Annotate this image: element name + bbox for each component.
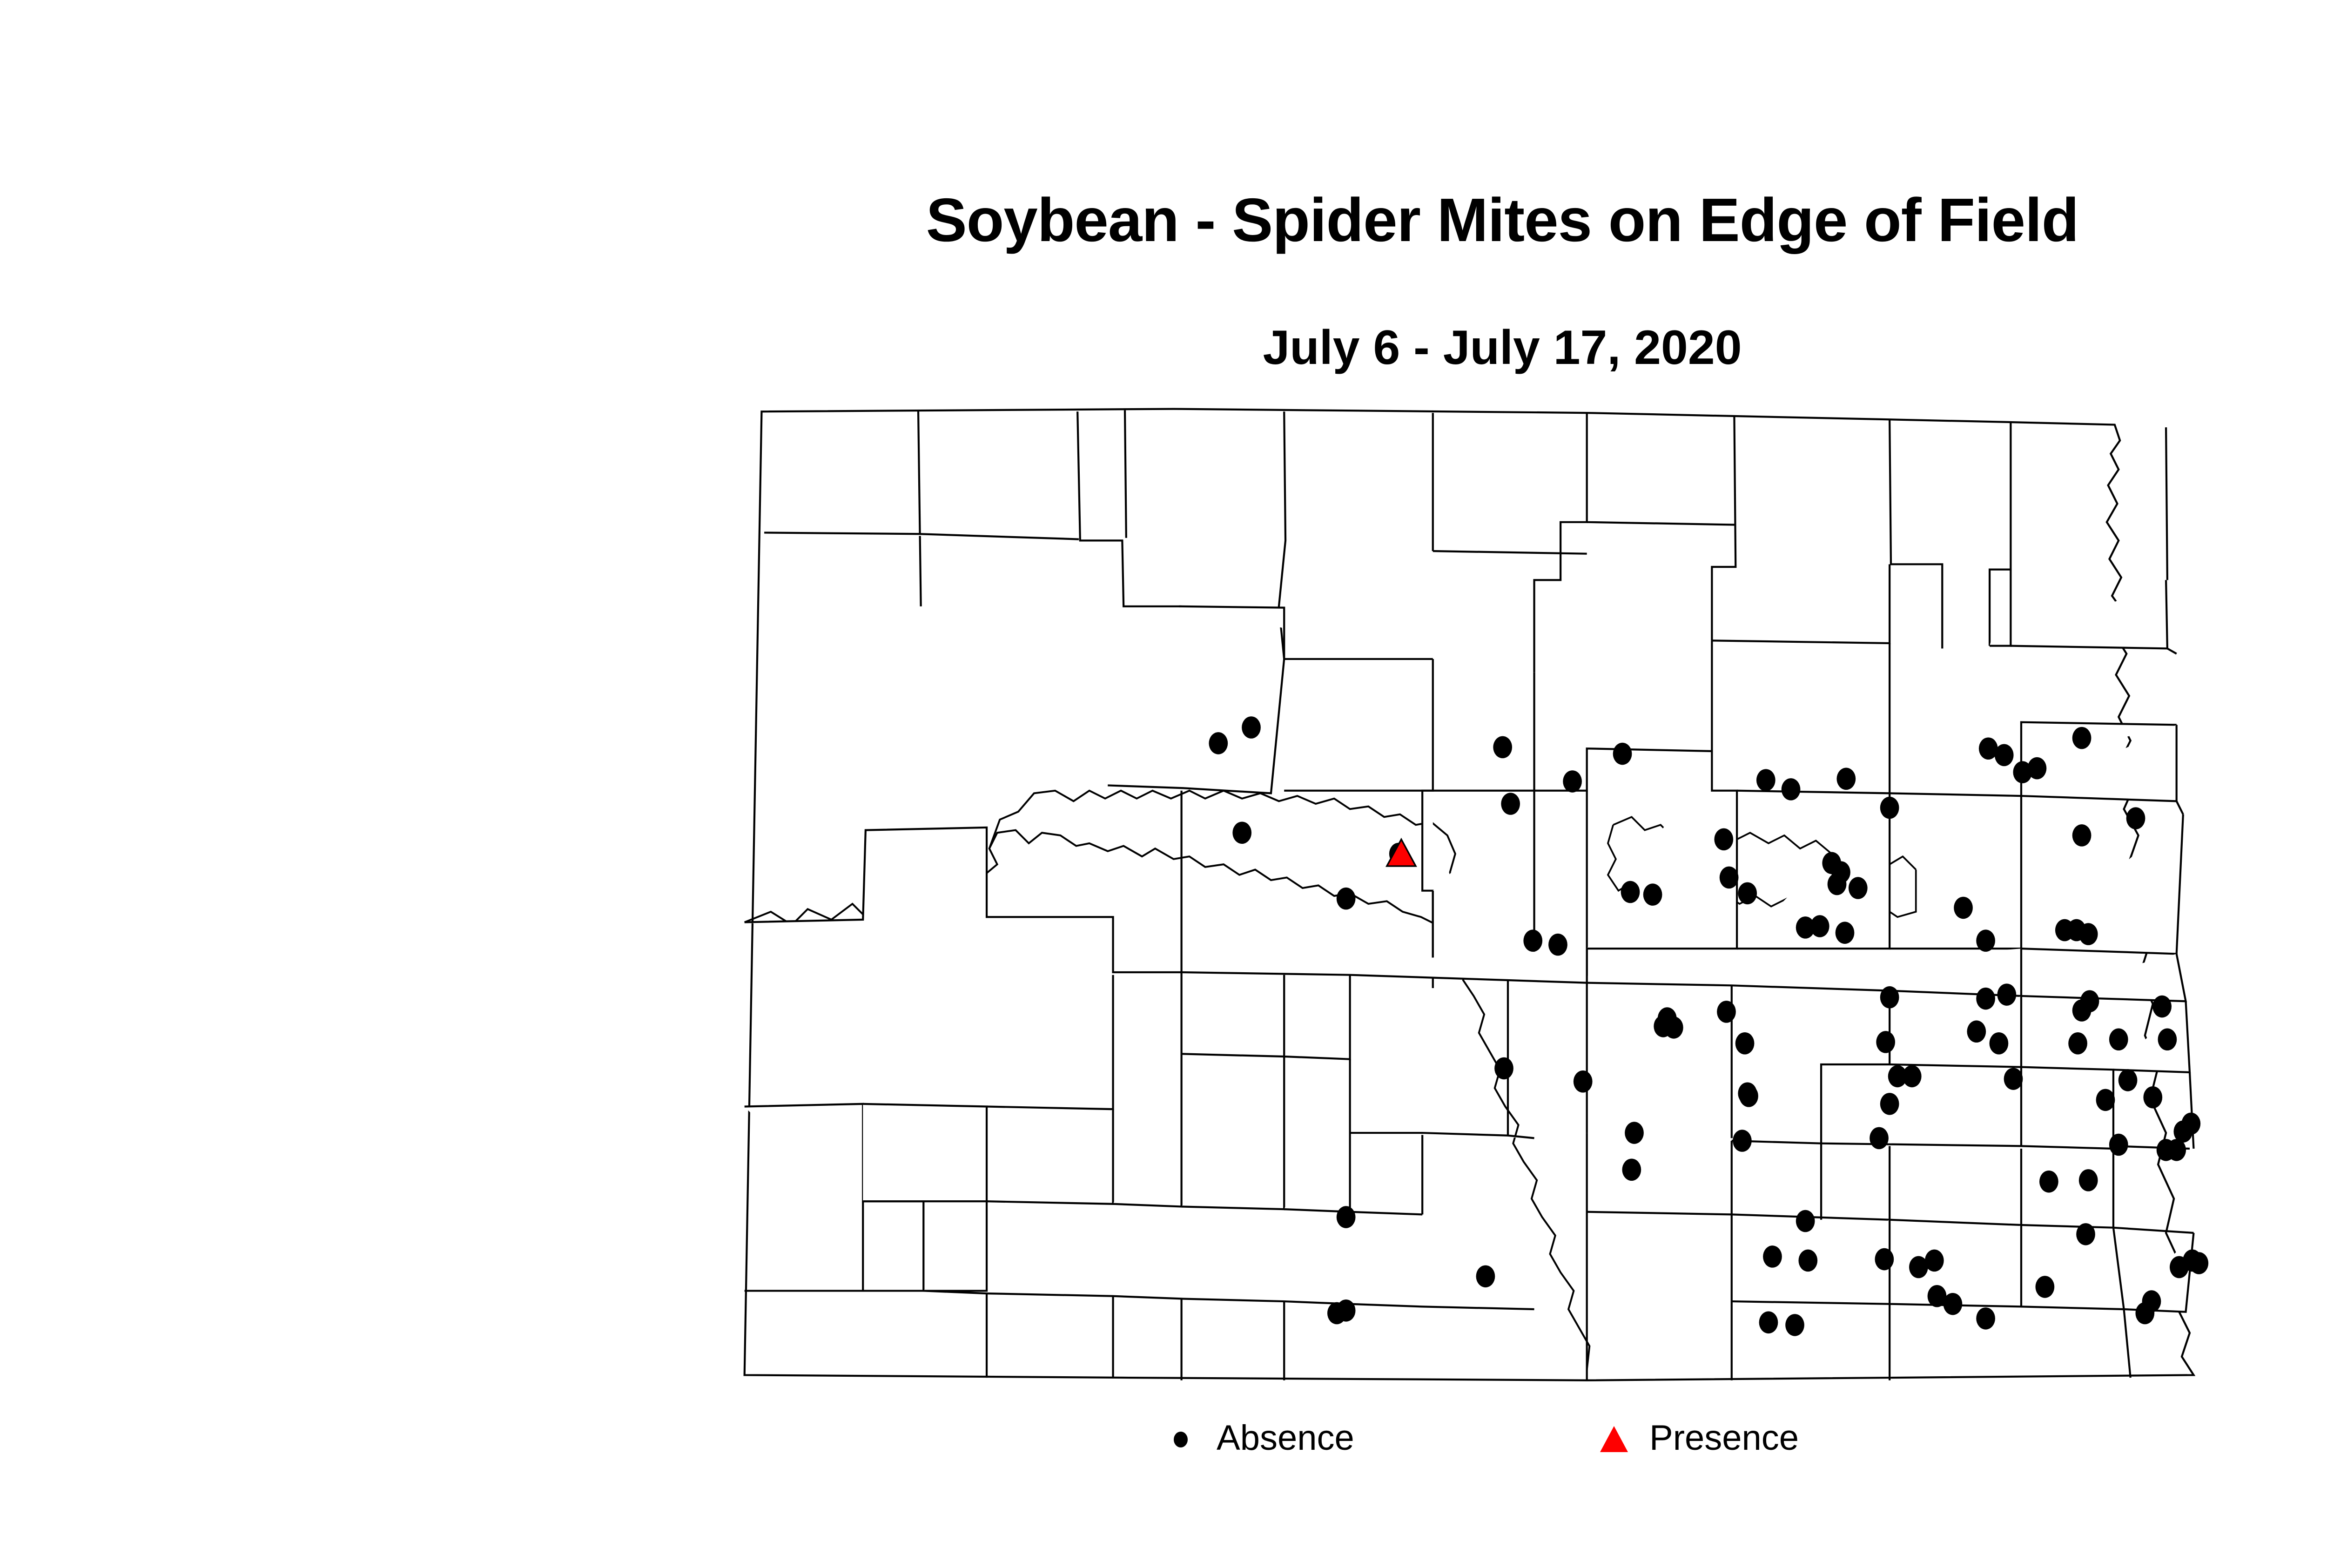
county-boundaries — [745, 409, 2194, 1380]
county-line — [863, 1104, 987, 1201]
map-marker-absence — [2004, 1068, 2023, 1090]
map-marker-absence — [2143, 1086, 2162, 1109]
map-marker-absence — [1643, 883, 1662, 906]
legend-label-absence: Absence — [1217, 1420, 1354, 1456]
map-marker-absence — [1493, 736, 1512, 759]
page-subtitle: July 6 - July 17, 2020 — [0, 321, 2327, 374]
map-marker-absence — [1654, 1015, 1673, 1037]
map-marker-absence — [1967, 1021, 1986, 1043]
map-marker-absence — [2072, 824, 2092, 847]
map-marker-absence — [1337, 1299, 1356, 1322]
county-line — [2166, 427, 2167, 580]
map-marker-absence — [2028, 757, 2047, 780]
map-marker-absence — [1880, 986, 1899, 1009]
county-line — [2167, 648, 2177, 653]
map-marker-absence — [1925, 1250, 1944, 1272]
map-marker-absence — [1548, 934, 1567, 956]
legend-item-presence: Presence — [1596, 1410, 1799, 1466]
map-marker-absence — [1944, 1293, 1963, 1315]
figure-container: Soybean - Spider Mites on Edge of Field … — [0, 0, 2327, 1568]
map-marker-absence — [1501, 793, 1520, 815]
map-marker-absence — [1954, 897, 1973, 919]
filled-triangle-icon — [1596, 1420, 1632, 1456]
map-marker-absence — [1880, 797, 1899, 819]
map-marker-absence — [1476, 1265, 1495, 1288]
map-marker-absence — [2109, 1134, 2128, 1156]
map-marker-absence — [1232, 821, 1251, 844]
map-marker-absence — [1796, 1210, 1815, 1232]
map-marker-absence — [2080, 990, 2099, 1012]
map-marker-absence — [2152, 996, 2172, 1018]
map-marker-absence — [2126, 807, 2145, 829]
map-marker-absence — [1782, 778, 1801, 801]
legend: Absence Presence — [1163, 1410, 1862, 1466]
legend-item-absence: Absence — [1163, 1410, 1354, 1466]
map-marker-absence — [2079, 1169, 2098, 1191]
map-marker-absence — [1836, 768, 1856, 790]
map-marker-absence — [1523, 929, 1542, 952]
map-marker-absence — [1976, 929, 1995, 952]
map-marker-absence — [1717, 1001, 1736, 1023]
map-marker-absence — [2158, 1029, 2177, 1051]
map-marker-absence — [2036, 1276, 2055, 1298]
map-marker-absence — [1798, 1250, 1817, 1272]
map-marker-absence — [1903, 1065, 1922, 1088]
map-marker-absence — [1976, 1307, 1995, 1330]
map-marker-absence — [1976, 988, 1995, 1010]
map-marker-absence — [1574, 1070, 1593, 1093]
map-marker-absence — [1613, 743, 1632, 765]
map-marker-absence — [1995, 744, 2014, 767]
county-line — [1125, 410, 1126, 538]
map-marker-absence — [1337, 1206, 1356, 1228]
legend-label-presence: Presence — [1649, 1420, 1799, 1456]
map-marker-absence — [2076, 1223, 2095, 1245]
map-marker-absence — [1810, 915, 1829, 937]
map-marker-absence — [2142, 1290, 2161, 1312]
map-marker-absence — [1625, 1122, 1644, 1144]
map-marker-absence — [1735, 1032, 1755, 1055]
county-line — [2177, 801, 2183, 814]
map-marker-absence — [1720, 867, 1739, 889]
map-marker-absence — [1990, 1032, 2009, 1055]
map-marker-absence — [1828, 873, 1847, 895]
map-marker-absence — [2096, 1089, 2115, 1111]
map-marker-absence — [1494, 1057, 1513, 1080]
map-marker-absence — [1621, 881, 1640, 903]
north-dakota-county-map — [666, 393, 2327, 1399]
map-marker-absence — [1876, 1031, 1895, 1053]
map-marker-absence — [1563, 770, 1582, 793]
map-marker-absence — [2072, 727, 2092, 749]
page-title: Soybean - Spider Mites on Edge of Field — [0, 186, 2327, 254]
map-marker-absence — [2183, 1250, 2202, 1272]
map-marker-absence — [1836, 922, 1855, 944]
map-marker-absence — [1739, 1085, 1758, 1107]
map-marker-absence — [1759, 1312, 1778, 1334]
map-marker-absence — [2079, 923, 2098, 945]
map-marker-absence — [1785, 1314, 1804, 1336]
map-marker-absence — [1337, 888, 1356, 910]
map-marker-absence — [1209, 732, 1228, 754]
map-svg — [666, 393, 2327, 1399]
map-marker-absence — [1880, 1093, 1899, 1115]
map-marker-absence — [1242, 716, 1261, 739]
map-marker-absence — [1733, 1130, 1752, 1152]
map-marker-absence — [1738, 882, 1757, 905]
map-marker-absence — [2119, 1069, 2138, 1091]
map-marker-absence — [2039, 1171, 2058, 1193]
map-marker-absence — [1870, 1127, 1889, 1150]
map-marker-absence — [1756, 769, 1776, 791]
map-marker-absence — [2068, 1032, 2087, 1055]
map-marker-absence — [2109, 1029, 2128, 1051]
map-marker-absence — [1714, 828, 1733, 851]
map-marker-absence — [1622, 1158, 1641, 1181]
map-marker-absence — [1763, 1245, 1782, 1268]
map-marker-absence — [1875, 1248, 1894, 1271]
filled-circle-icon — [1163, 1420, 1199, 1456]
map-marker-absence — [1849, 877, 1868, 899]
map-marker-absence — [2167, 1139, 2186, 1161]
map-marker-absence — [1997, 983, 2016, 1006]
